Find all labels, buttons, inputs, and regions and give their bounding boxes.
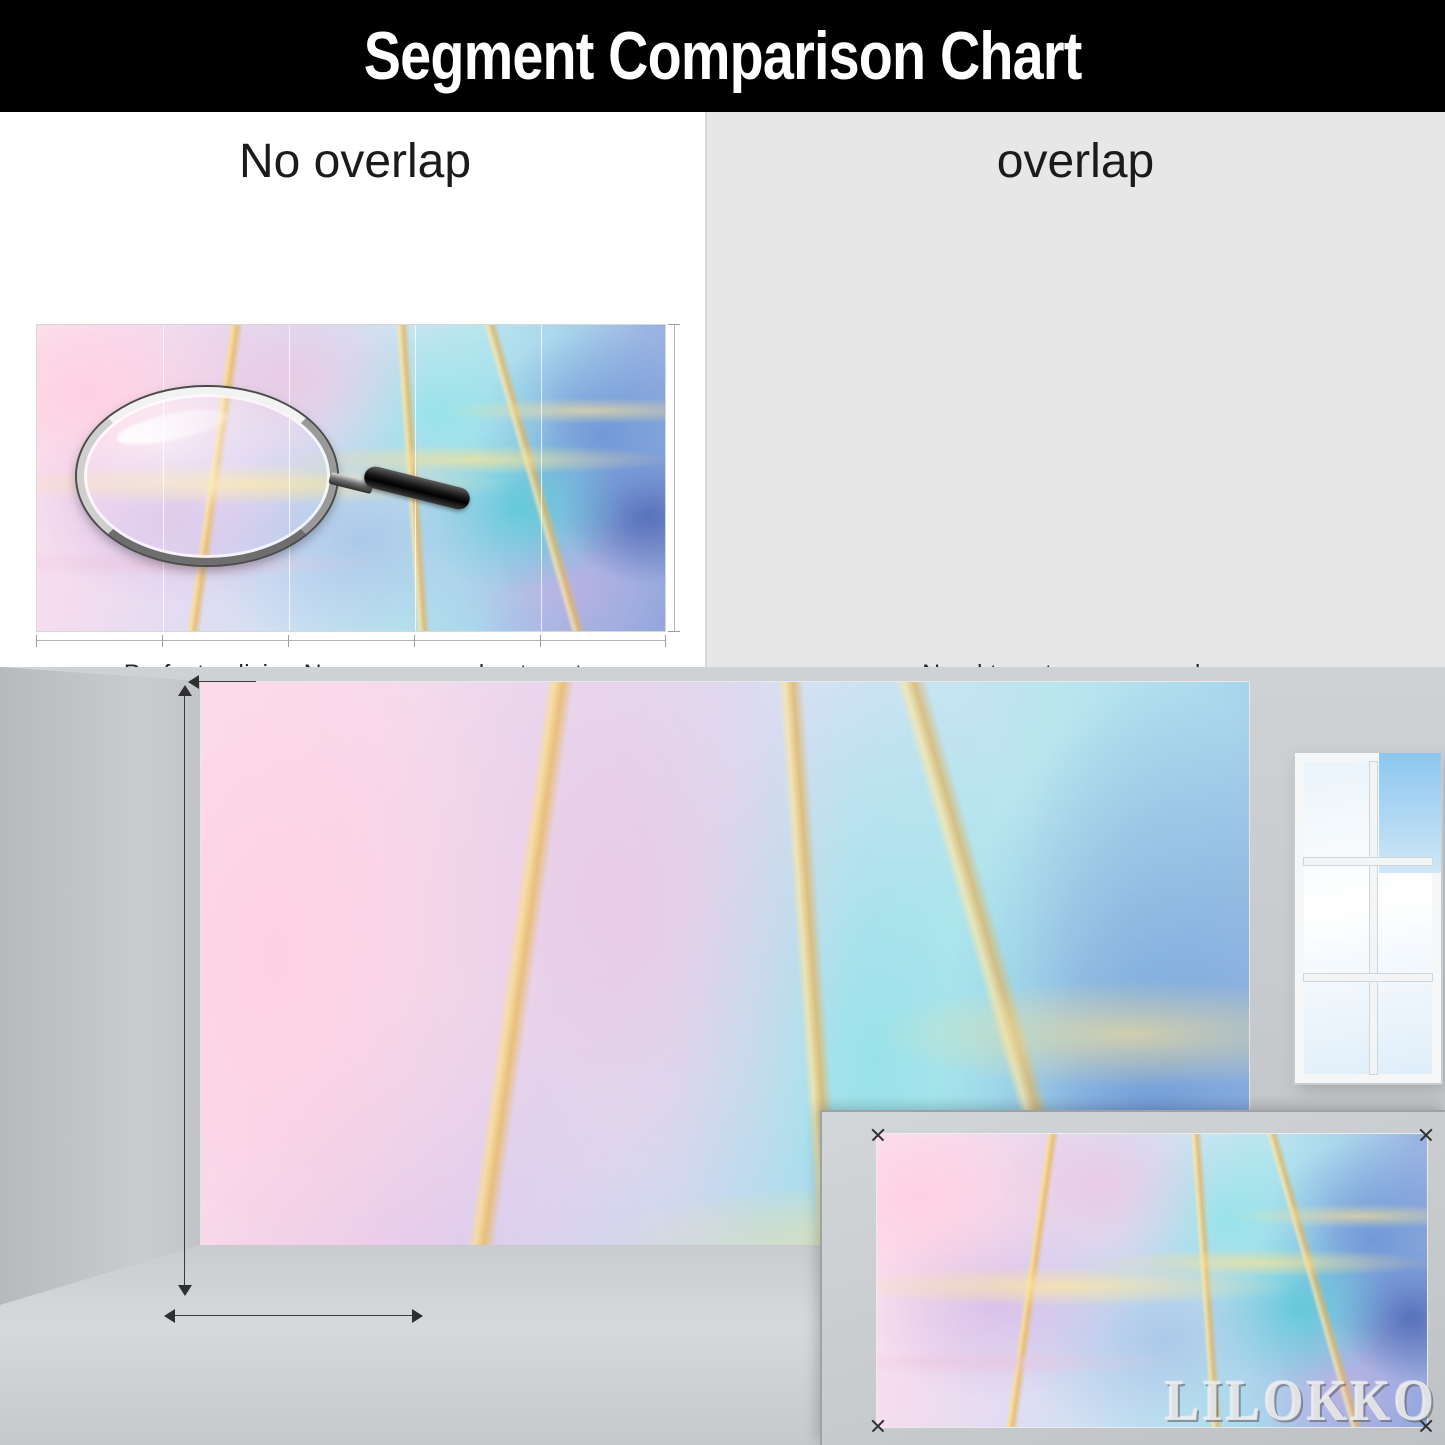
panel-heading-right: overlap: [706, 134, 1445, 189]
ruler-tick: [288, 635, 289, 647]
title-banner: Segment Comparison Chart: [0, 0, 1445, 112]
window-sky: [1379, 753, 1441, 873]
dimension-line: [184, 693, 185, 1293]
arrow-head-right: [412, 1309, 423, 1323]
comparison-panel-overlap: overlap: [706, 112, 1445, 667]
infographic-page: Segment Comparison Chart No overlap: [0, 0, 1445, 1445]
ruler-bar: [674, 324, 675, 632]
window-mullion-horizontal: [1304, 974, 1432, 981]
seam-line: [541, 325, 542, 631]
ruler-bar: [36, 640, 666, 641]
ruler-tick: [668, 631, 680, 632]
ruler-tick: [36, 635, 37, 647]
page-title: Segment Comparison Chart: [364, 22, 1082, 90]
panel-divider: [705, 112, 707, 667]
ruler-tick: [668, 324, 680, 325]
corner-marker: [870, 1127, 886, 1143]
window-mullion-horizontal: [1304, 858, 1432, 865]
room-scene: LILOKKO: [0, 667, 1445, 1445]
comparison-panel-no-overlap: No overlap: [0, 112, 706, 667]
arrow-head-left: [164, 1309, 175, 1323]
seam-line: [289, 325, 290, 631]
ruler-vertical-left: [668, 324, 680, 632]
comparison-section: No overlap: [0, 112, 1445, 667]
sample-image-no-overlap: [36, 324, 666, 632]
arrow-head-left: [188, 675, 199, 689]
ruler-tick: [162, 635, 163, 647]
watermark: LILOKKO: [1165, 1368, 1437, 1434]
arrow-head-down: [178, 1285, 192, 1296]
window-icon: [1295, 753, 1441, 1083]
ruler-tick: [414, 635, 415, 647]
dimension-line: [196, 681, 256, 682]
ruler-tick: [665, 635, 666, 647]
corner-marker: [1418, 1127, 1434, 1143]
seam-line: [163, 325, 164, 631]
ruler-horizontal-left: [36, 635, 666, 647]
dimension-line: [172, 1315, 422, 1316]
ruler-tick: [540, 635, 541, 647]
corner-marker: [870, 1418, 886, 1434]
panel-heading-left: No overlap: [0, 134, 706, 189]
window-mullion-vertical: [1370, 762, 1377, 1074]
